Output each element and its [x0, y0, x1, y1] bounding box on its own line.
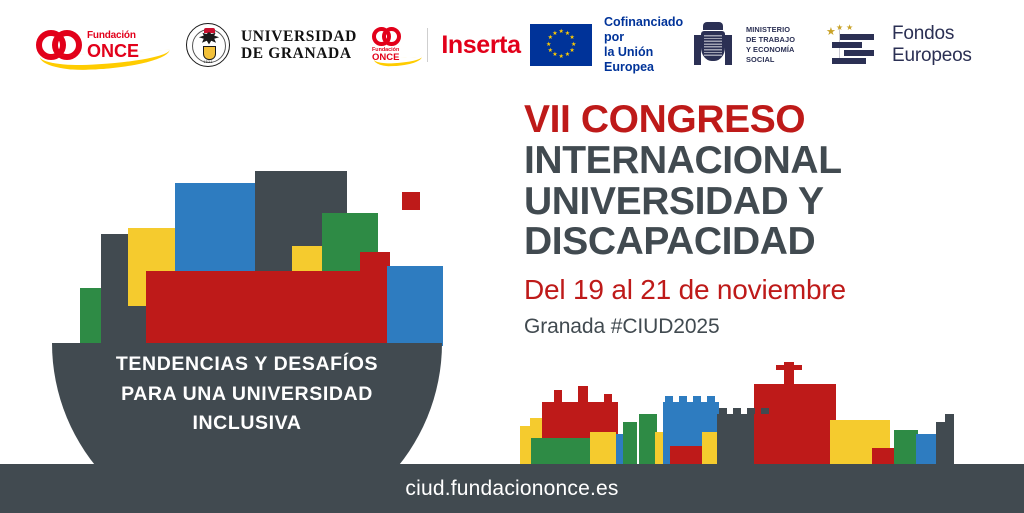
sky-crenel-blue-2	[679, 396, 687, 402]
eu-line2: la Unión Europea	[604, 45, 685, 76]
title-roman-numeral: VII	[524, 98, 581, 141]
logo-universidad-granada: 1531 UNIVERSIDAD DE GRANADA	[186, 0, 336, 90]
fondos-europeos-mark-icon: ★★★	[822, 22, 880, 68]
fondos-bar-icon	[832, 58, 866, 64]
ugr-line1: UNIVERSIDAD	[241, 28, 357, 45]
fondos-europeos-label: Fondos Europeos	[892, 23, 1012, 67]
logo-cofinanciado-union-europea: ★★★★★★★★★★★★ Cofinanciado por la Unión E…	[530, 0, 685, 90]
ugr-seal-year: 1531	[187, 60, 229, 64]
sky-crenel-dark-1	[719, 408, 727, 414]
logo-fundacion-once: Fundación ONCE	[36, 0, 176, 90]
logo-inserta: Fundación ONCE Inserta	[372, 0, 507, 90]
fondos-bar-icon	[844, 50, 874, 56]
sponsor-logo-strip: Fundación ONCE 1531 UNIVERSIDAD DE GRANA…	[0, 0, 1024, 90]
inserta-brand-label: Inserta	[441, 31, 520, 60]
sky-dark-right	[936, 422, 954, 464]
ministerio-line3: Y ECONOMÍA SOCIAL	[746, 45, 825, 65]
sky-crenel-dark-4	[761, 408, 769, 414]
emblem-motto: TENDENCIAS Y DESAFÍOS PARA UNA UNIVERSID…	[52, 350, 442, 439]
inserta-divider	[427, 28, 428, 62]
once-line1: Fundación	[87, 31, 139, 41]
eu-star-icon: ★	[559, 30, 564, 35]
footer-bar: ciud.fundaciononce.es	[0, 464, 1024, 513]
sky-spire-cross	[776, 365, 802, 370]
sky-crenel-blue-3	[693, 396, 701, 402]
motto-line-1: TENDENCIAS Y DESAFÍOS	[52, 350, 442, 380]
fondos-star-icon: ★	[826, 28, 836, 37]
block-red-dot-floating	[402, 192, 420, 210]
sky-green-1	[531, 438, 591, 464]
motto-line-2: PARA UNA UNIVERSIDAD	[52, 380, 442, 410]
sky-yellow-3	[590, 432, 616, 464]
ministerio-line1: MINISTERIO	[746, 25, 825, 35]
eu-star-icon: ★	[571, 43, 576, 48]
eu-star-icon: ★	[552, 53, 557, 58]
sky-crenel-dark-2	[733, 408, 741, 414]
sky-crenel-dark-3	[747, 408, 755, 414]
eu-star-icon: ★	[565, 53, 570, 58]
inserta-once-swoosh-icon	[374, 56, 422, 67]
block-red-wide	[146, 271, 386, 346]
congress-location-hashtag: Granada #CIUD2025	[524, 315, 994, 339]
title-line-congreso: VII CONGRESO	[524, 100, 994, 141]
title-line-discapacidad: DISCAPACIDAD	[524, 222, 994, 263]
granada-skyline-illustration	[512, 372, 1024, 464]
sky-spire-left-2	[578, 386, 588, 402]
congress-poster: Fundación ONCE 1531 UNIVERSIDAD DE GRANA…	[0, 0, 1024, 513]
sky-green-4	[894, 430, 918, 464]
eu-star-icon: ★	[559, 55, 564, 60]
block-blue-right	[387, 266, 443, 346]
eu-line1: Cofinanciado por	[604, 15, 685, 46]
sky-spire-left-3	[604, 394, 612, 406]
sky-notch-right	[945, 414, 954, 422]
fondos-bar-icon	[840, 34, 874, 40]
congress-title-block: VII CONGRESO INTERNACIONAL UNIVERSIDAD Y…	[524, 100, 994, 339]
website-url[interactable]: ciud.fundaciononce.es	[405, 477, 618, 501]
inserta-once-rings-icon	[372, 27, 402, 46]
eu-flag-icon: ★★★★★★★★★★★★	[530, 24, 592, 66]
fondos-star-icon: ★	[846, 23, 853, 32]
logo-fondos-europeos: ★★★ Fondos Europeos	[822, 0, 1012, 90]
eu-star-icon: ★	[569, 49, 574, 54]
fondos-star-icon: ★	[836, 23, 843, 32]
eu-star-icon: ★	[552, 32, 557, 37]
fondos-bar-icon	[832, 42, 862, 48]
eu-star-icon: ★	[548, 36, 553, 41]
eu-star-icon: ★	[546, 43, 551, 48]
sky-crenel-blue-4	[707, 396, 715, 402]
congress-emblem: TENDENCIAS Y DESAFÍOS PARA UNA UNIVERSID…	[0, 88, 500, 448]
title-line-internacional: INTERNACIONAL	[524, 141, 994, 182]
ugr-seal-icon: 1531	[186, 23, 230, 67]
motto-line-3: INCLUSIVA	[52, 409, 442, 439]
title-word-congreso: CONGRESO	[581, 98, 805, 141]
sky-spire-left-1	[554, 390, 562, 402]
congress-dates: Del 19 al 21 de noviembre	[524, 274, 994, 306]
eu-star-icon: ★	[548, 49, 553, 54]
sky-crenel-blue-1	[665, 396, 673, 402]
spain-coat-of-arms-icon	[690, 21, 736, 69]
eu-star-icon: ★	[569, 36, 574, 41]
sky-red-cathedral	[754, 384, 836, 464]
title-line-universidad: UNIVERSIDAD Y	[524, 182, 994, 223]
sky-red-low	[670, 446, 704, 464]
sky-green-2	[623, 422, 637, 464]
logo-ministerio-trabajo: MINISTERIO DE TRABAJO Y ECONOMÍA SOCIAL	[690, 0, 840, 90]
ministerio-line2: DE TRABAJO	[746, 35, 825, 45]
ugr-line2: DE GRANADA	[241, 45, 357, 62]
